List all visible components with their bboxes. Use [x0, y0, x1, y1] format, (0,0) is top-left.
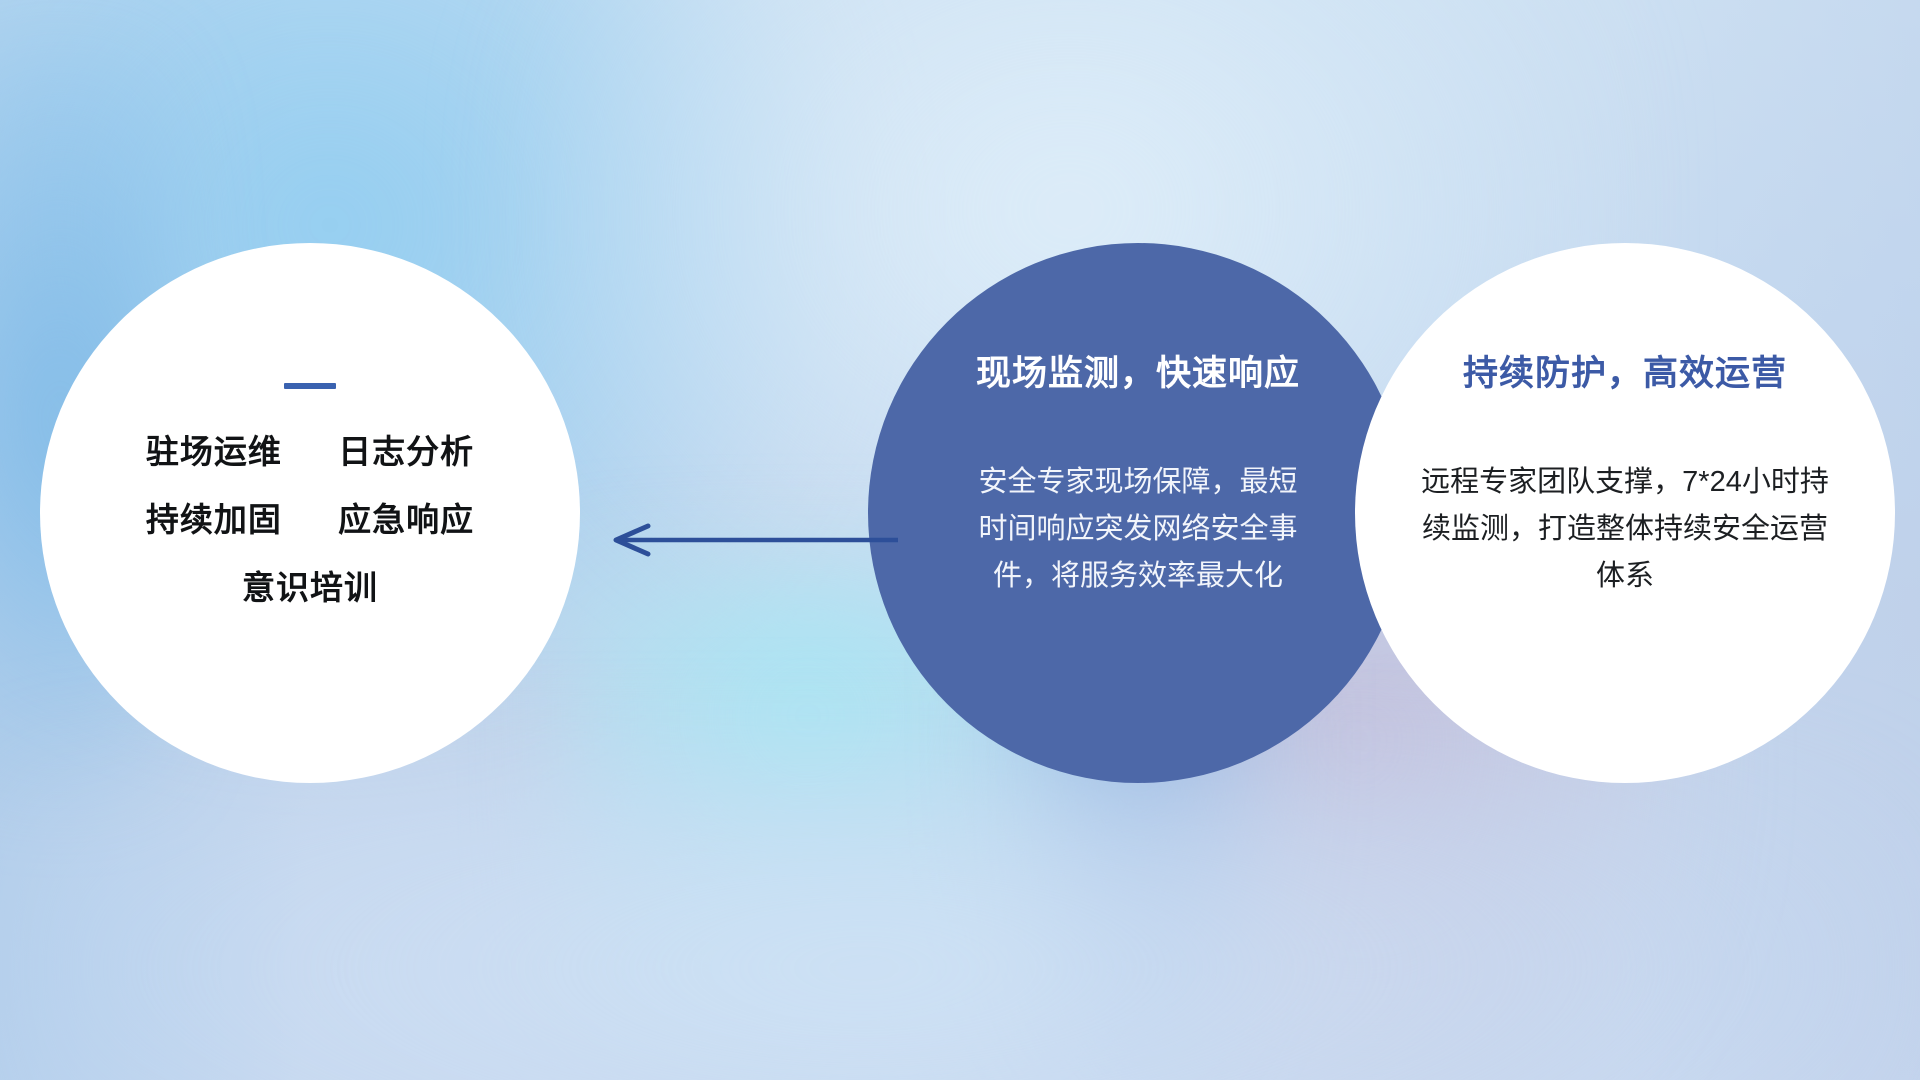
- capability-circle-content: 驻场运维 日志分析 持续加固 应急响应 意识培训: [95, 383, 525, 604]
- onsite-title: 现场监测，快速响应: [928, 353, 1348, 395]
- onsite-service-circle[interactable]: 现场监测，快速响应 安全专家现场保障，最短时间响应突发网络安全事件，将服务效率最…: [868, 243, 1408, 783]
- keyword-label: 日志分析: [338, 433, 474, 470]
- arrow-left-icon: [598, 520, 898, 560]
- keyword-row: 意识培训: [95, 571, 525, 604]
- keyword-label: 应急响应: [338, 501, 474, 538]
- onsite-circle-content: 现场监测，快速响应 安全专家现场保障，最短时间响应突发网络安全事件，将服务效率最…: [928, 353, 1348, 600]
- capability-circle[interactable]: 驻场运维 日志分析 持续加固 应急响应 意识培训: [40, 243, 580, 783]
- onsite-description: 安全专家现场保障，最短时间响应突发网络安全事件，将服务效率最大化: [973, 459, 1303, 600]
- keyword-label: 驻场运维: [146, 433, 282, 470]
- three-circle-diagram: 驻场运维 日志分析 持续加固 应急响应 意识培训 现场监测，快速响应 安全专家现…: [0, 0, 1920, 1080]
- remote-circle-content: 持续防护，高效运营 远程专家团队支撑，7*24小时持续监测，打造整体持续安全运营…: [1405, 353, 1845, 600]
- remote-description: 远程专家团队支撑，7*24小时持续监测，打造整体持续安全运营体系: [1415, 459, 1835, 600]
- keyword-label: 持续加固: [146, 501, 282, 538]
- keyword-row: 驻场运维 日志分析: [95, 435, 525, 468]
- horizontal-dash-icon: [284, 383, 336, 389]
- remote-service-circle[interactable]: 持续防护，高效运营 远程专家团队支撑，7*24小时持续监测，打造整体持续安全运营…: [1355, 243, 1895, 783]
- keyword-row: 持续加固 应急响应: [95, 503, 525, 536]
- keyword-label: 意识培训: [242, 569, 378, 606]
- remote-title: 持续防护，高效运营: [1405, 353, 1845, 395]
